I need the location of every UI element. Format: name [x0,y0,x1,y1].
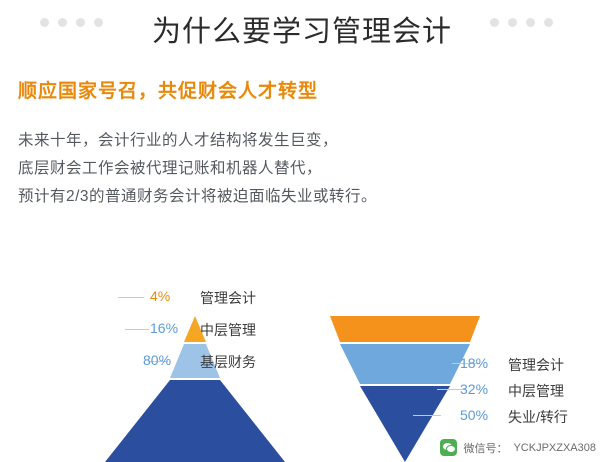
section-subtitle: 顺应国家号召，共促财会人才转型 [18,76,318,103]
leader-line-left-2 [125,329,149,330]
leader-line-right-3 [413,415,441,416]
right-label-2: 中层管理 [508,381,564,401]
page-title: 为什么要学习管理会计 [0,8,604,50]
left-label-2: 中层管理 [200,320,256,340]
wechat-badge-id: YCKJPXZXA308 [513,442,596,454]
pyramid-current-segment-3 [105,380,285,462]
left-pct-2: 16% [150,320,178,336]
pyramid-current [105,316,285,462]
right-pct-3: 50% [460,407,488,423]
left-label-1: 管理会计 [200,288,256,308]
paragraph-line-2: 底层财会工作会被代理记账和机器人替代， [18,155,377,183]
pyramid-future-segment-2 [340,344,470,384]
wechat-badge-prefix: 微信号： [463,440,507,456]
right-label-3: 失业/转行 [508,407,568,427]
right-pct-1: 18% [460,355,488,371]
wechat-icon [440,439,457,456]
pyramid-current-svg [105,316,285,462]
left-label-3: 基层财务 [200,352,256,372]
body-paragraph: 未来十年，会计行业的人才结构将发生巨变， 底层财会工作会被代理记账和机器人替代，… [18,127,377,211]
leader-line-left-1 [118,297,144,298]
pyramid-future-segment-1 [330,316,480,342]
left-pct-1: 4% [150,288,170,304]
pyramid-future-segment-3 [360,386,450,462]
wechat-badge: 微信号： YCKJPXZXA308 [440,439,596,456]
right-label-1: 管理会计 [508,355,564,375]
paragraph-line-3: 预计有2/3的普通财务会计将被迫面临失业或转行。 [18,183,377,211]
left-pct-3: 80% [143,352,171,368]
paragraph-line-1: 未来十年，会计行业的人才结构将发生巨变， [18,127,377,155]
right-pct-2: 32% [460,381,488,397]
